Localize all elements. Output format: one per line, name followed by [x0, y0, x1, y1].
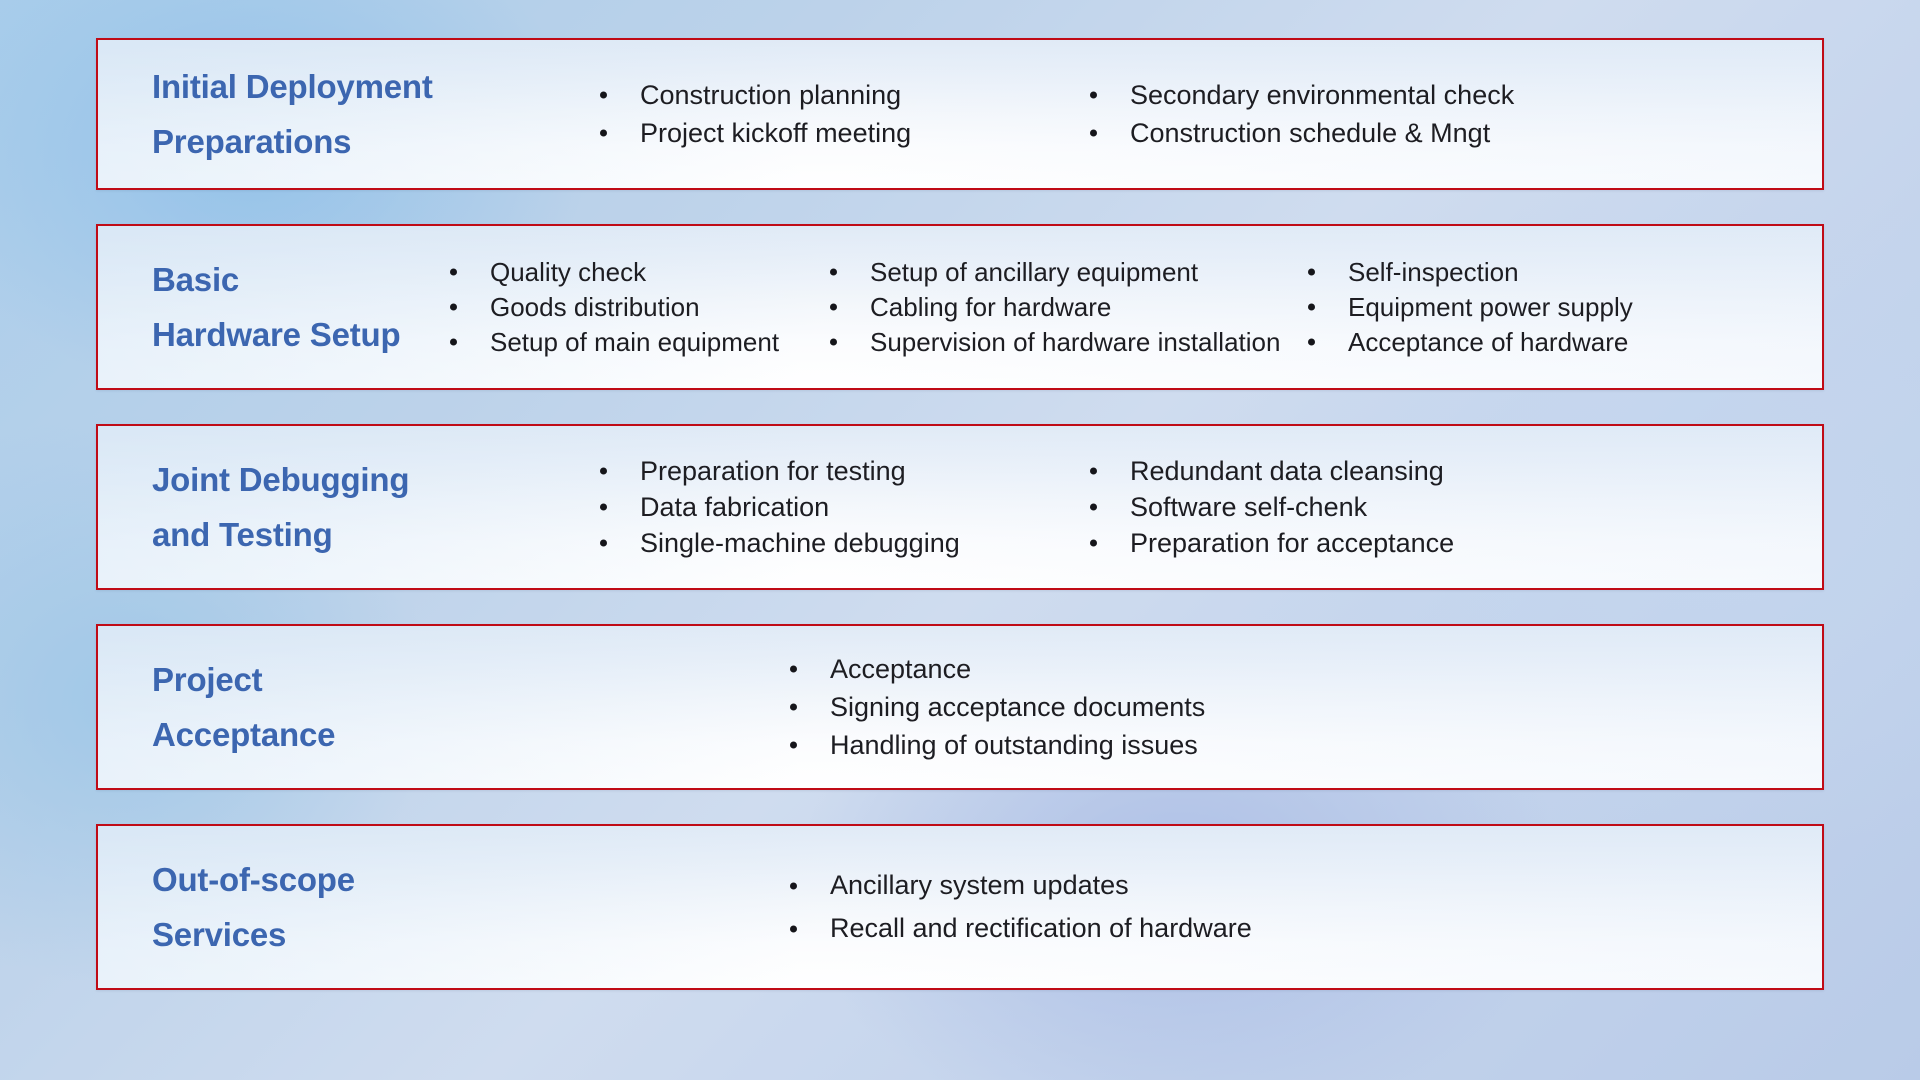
list-item[interactable]: Handling of outstanding issues — [788, 732, 1205, 759]
list-item-label: Data fabrication — [640, 492, 829, 522]
bullet-column: Quality checkGoods distributionSetup of … — [448, 250, 828, 364]
bullet-dot-icon — [1308, 304, 1315, 311]
bullet-dot-icon — [830, 339, 837, 346]
list-item-label: Ancillary system updates — [830, 870, 1129, 900]
bullet-dot-icon — [1308, 339, 1315, 346]
stage-columns: Quality checkGoods distributionSetup of … — [448, 226, 1822, 388]
list-item-label: Self-inspection — [1348, 257, 1519, 287]
list-item-label: Acceptance — [830, 654, 971, 684]
bullet-dot-icon — [1090, 540, 1097, 547]
bullet-dot-icon — [790, 925, 797, 932]
list-item-label: Quality check — [490, 257, 646, 287]
stage-title-line: Acceptance — [152, 707, 788, 762]
bullet-list: Setup of ancillary equipmentCabling for … — [828, 250, 1306, 364]
card-gap — [96, 590, 1824, 624]
list-item-label: Construction planning — [640, 80, 901, 110]
stage-title-project-acceptance: ProjectAcceptance — [98, 652, 788, 763]
stage-card-basic-hardware-setup[interactable]: BasicHardware SetupQuality checkGoods di… — [96, 224, 1824, 390]
card-gap — [96, 190, 1824, 224]
bullet-column: Construction planningProject kickoff mee… — [598, 71, 1088, 158]
stage-title-joint-debugging-and-testing: Joint Debuggingand Testing — [98, 452, 598, 563]
bullet-dot-icon — [1090, 468, 1097, 475]
bullet-dot-icon — [450, 339, 457, 346]
list-item-label: Preparation for acceptance — [1130, 528, 1454, 558]
bullet-dot-icon — [1090, 92, 1097, 99]
list-item-label: Acceptance of hardware — [1348, 327, 1628, 357]
bullet-column: Setup of ancillary equipmentCabling for … — [828, 250, 1306, 364]
bullet-column: Ancillary system updatesRecall and recti… — [788, 856, 1252, 958]
stage-title-line: Services — [152, 907, 788, 962]
list-item-label: Setup of ancillary equipment — [870, 257, 1198, 287]
bullet-list: AcceptanceSigning acceptance documentsHa… — [788, 645, 1205, 770]
bullet-dot-icon — [1308, 269, 1315, 276]
list-item[interactable]: Goods distribution — [448, 294, 828, 320]
bullet-dot-icon — [600, 468, 607, 475]
list-item[interactable]: Cabling for hardware — [828, 294, 1306, 320]
bullet-column: Self-inspectionEquipment power supplyAcc… — [1306, 250, 1633, 364]
bullet-dot-icon — [790, 666, 797, 673]
list-item[interactable]: Acceptance — [788, 656, 1205, 683]
stage-title-out-of-scope-services: Out-of-scopeServices — [98, 852, 788, 963]
bullet-dot-icon — [600, 540, 607, 547]
list-item[interactable]: Quality check — [448, 259, 828, 285]
list-item-label: Preparation for testing — [640, 456, 906, 486]
stage-title-line: Joint Debugging — [152, 452, 598, 507]
stage-title-line: Hardware Setup — [152, 307, 448, 362]
list-item-label: Signing acceptance documents — [830, 692, 1205, 722]
bullet-dot-icon — [790, 742, 797, 749]
bullet-list: Quality checkGoods distributionSetup of … — [448, 250, 828, 364]
bullet-list: Preparation for testingData fabricationS… — [598, 449, 1088, 566]
list-item-label: Cabling for hardware — [870, 292, 1111, 322]
list-item[interactable]: Equipment power supply — [1306, 294, 1633, 320]
list-item-label: Secondary environmental check — [1130, 80, 1514, 110]
bullet-dot-icon — [830, 304, 837, 311]
bullet-list: Secondary environmental checkConstructio… — [1088, 71, 1514, 158]
bullet-list: Self-inspectionEquipment power supplyAcc… — [1306, 250, 1633, 364]
list-item[interactable]: Software self-chenk — [1088, 494, 1454, 521]
bullet-dot-icon — [450, 269, 457, 276]
process-stage-stack: Initial DeploymentPreparationsConstructi… — [96, 38, 1824, 1042]
list-item[interactable]: Redundant data cleansing — [1088, 458, 1454, 485]
stage-title-initial-deployment-preparations: Initial DeploymentPreparations — [98, 59, 598, 170]
list-item-label: Software self-chenk — [1130, 492, 1367, 522]
list-item-label: Equipment power supply — [1348, 292, 1633, 322]
list-item-label: Setup of main equipment — [490, 327, 779, 357]
stage-title-line: Initial Deployment — [152, 59, 598, 114]
stage-title-line: and Testing — [152, 507, 598, 562]
bullet-dot-icon — [450, 304, 457, 311]
list-item[interactable]: Construction schedule & Mngt — [1088, 120, 1514, 147]
list-item[interactable]: Setup of main equipment — [448, 329, 828, 355]
list-item[interactable]: Preparation for testing — [598, 458, 1088, 485]
bullet-column: Preparation for testingData fabricationS… — [598, 449, 1088, 566]
stage-card-out-of-scope-services[interactable]: Out-of-scopeServicesAncillary system upd… — [96, 824, 1824, 990]
list-item[interactable]: Ancillary system updates — [788, 872, 1252, 899]
list-item[interactable]: Acceptance of hardware — [1306, 329, 1633, 355]
bullet-dot-icon — [790, 704, 797, 711]
list-item[interactable]: Self-inspection — [1306, 259, 1633, 285]
bullet-list: Redundant data cleansingSoftware self-ch… — [1088, 449, 1454, 566]
list-item[interactable]: Construction planning — [598, 82, 1088, 109]
list-item-label: Recall and rectification of hardware — [830, 913, 1252, 943]
list-item-label: Goods distribution — [490, 292, 700, 322]
bullet-column: Redundant data cleansingSoftware self-ch… — [1088, 449, 1454, 566]
stage-title-line: Project — [152, 652, 788, 707]
bullet-list: Ancillary system updatesRecall and recti… — [788, 856, 1252, 958]
stage-columns: Preparation for testingData fabricationS… — [598, 426, 1822, 588]
list-item[interactable]: Single-machine debugging — [598, 530, 1088, 557]
stage-columns: Ancillary system updatesRecall and recti… — [788, 826, 1822, 988]
list-item[interactable]: Secondary environmental check — [1088, 82, 1514, 109]
card-gap — [96, 790, 1824, 824]
list-item-label: Project kickoff meeting — [640, 118, 911, 148]
stage-title-line: Out-of-scope — [152, 852, 788, 907]
stage-columns: Construction planningProject kickoff mee… — [598, 40, 1822, 188]
stage-card-initial-deployment-preparations[interactable]: Initial DeploymentPreparationsConstructi… — [96, 38, 1824, 190]
bullet-column: Secondary environmental checkConstructio… — [1088, 71, 1514, 158]
list-item[interactable]: Setup of ancillary equipment — [828, 259, 1306, 285]
list-item-label: Redundant data cleansing — [1130, 456, 1444, 486]
stage-columns: AcceptanceSigning acceptance documentsHa… — [788, 626, 1822, 788]
stage-card-joint-debugging-and-testing[interactable]: Joint Debuggingand TestingPreparation fo… — [96, 424, 1824, 590]
card-gap — [96, 390, 1824, 424]
bullet-dot-icon — [1090, 130, 1097, 137]
list-item[interactable]: Recall and rectification of hardware — [788, 915, 1252, 942]
stage-title-line: Basic — [152, 252, 448, 307]
list-item[interactable]: Supervision of hardware installation — [828, 329, 1306, 355]
stage-title-basic-hardware-setup: BasicHardware Setup — [98, 252, 448, 363]
bullet-dot-icon — [790, 882, 797, 889]
list-item-label: Single-machine debugging — [640, 528, 960, 558]
list-item[interactable]: Project kickoff meeting — [598, 120, 1088, 147]
bullet-dot-icon — [600, 130, 607, 137]
bullet-column: AcceptanceSigning acceptance documentsHa… — [788, 645, 1205, 770]
list-item[interactable]: Data fabrication — [598, 494, 1088, 521]
list-item[interactable]: Preparation for acceptance — [1088, 530, 1454, 557]
list-item-label: Handling of outstanding issues — [830, 730, 1198, 760]
bullet-dot-icon — [830, 269, 837, 276]
list-item-label: Construction schedule & Mngt — [1130, 118, 1490, 148]
list-item[interactable]: Signing acceptance documents — [788, 694, 1205, 721]
bullet-dot-icon — [1090, 504, 1097, 511]
list-item-label: Supervision of hardware installation — [870, 327, 1280, 357]
bullet-dot-icon — [600, 92, 607, 99]
stage-title-line: Preparations — [152, 114, 598, 169]
bullet-dot-icon — [600, 504, 607, 511]
bullet-list: Construction planningProject kickoff mee… — [598, 71, 1088, 158]
stage-card-project-acceptance[interactable]: ProjectAcceptanceAcceptanceSigning accep… — [96, 624, 1824, 790]
